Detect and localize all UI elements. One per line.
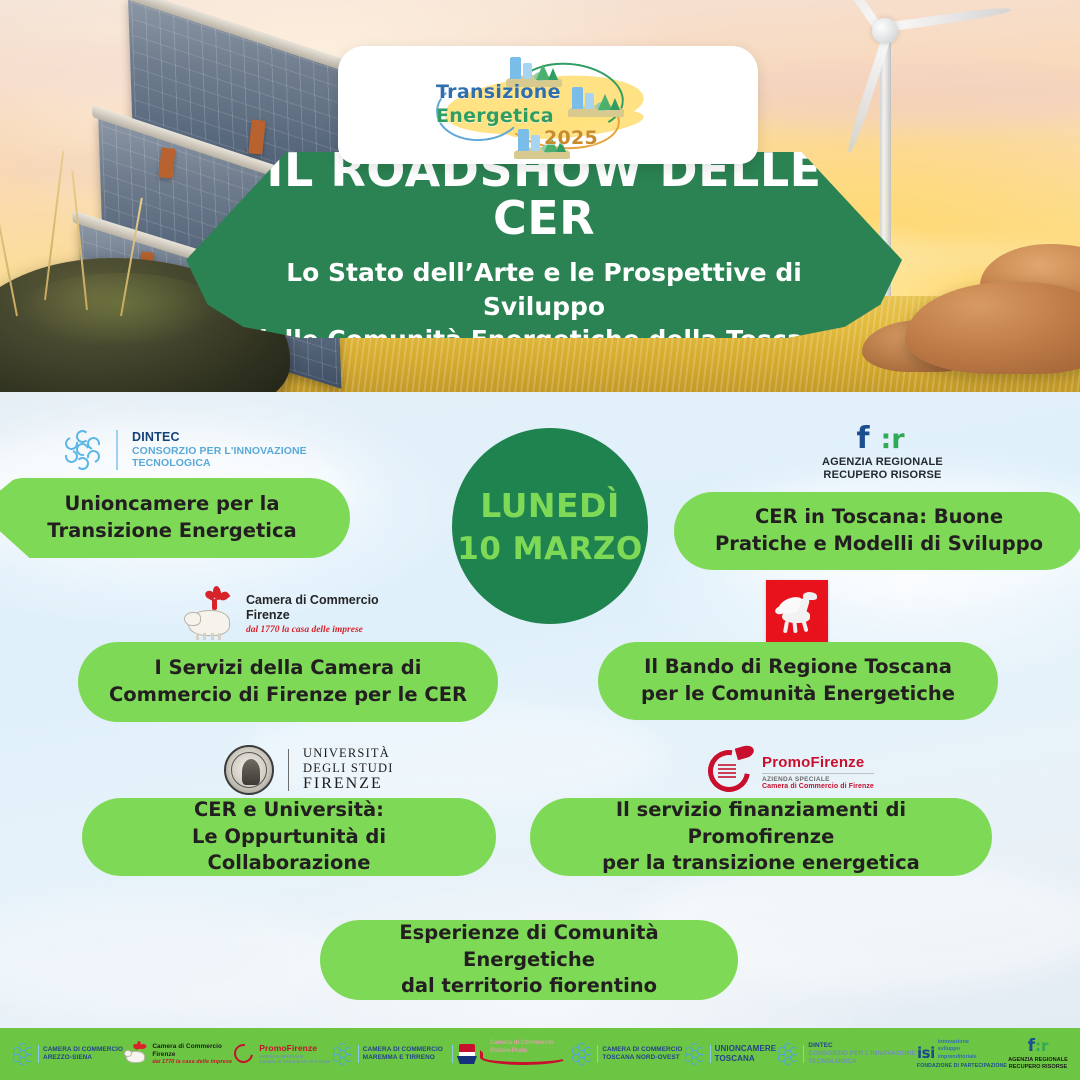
poster-root: Transizione Energetica 2025 IL ROADSHOW … xyxy=(0,0,1080,1080)
isi-wordmark: isi xyxy=(917,1047,935,1061)
footer-logo-arrr: f:r AGENZIA REGIONALE RECUPERO RISORSE xyxy=(1008,1038,1068,1071)
lamb-icon xyxy=(124,1042,148,1066)
subtitle-line-1: Lo Stato dell’Arte e le Prospettive di S… xyxy=(244,256,844,323)
partner-logo-strip: CAMERA DI COMMERCIO AREZZO-SIENA Camera … xyxy=(0,1028,1080,1080)
logo-rule xyxy=(762,773,874,774)
footer-logo-cciaa-arezzo-siena: CAMERA DI COMMERCIO AREZZO-SIENA xyxy=(12,1043,123,1065)
footer-logo-label: CAMERA DI COMMERCIO MAREMMA E TIRRENO xyxy=(363,1046,443,1062)
footer-logo-cciaa-pistoia-prato: Camera di Commercio Pistoia-Prato xyxy=(478,1041,570,1067)
lily-icon xyxy=(204,586,230,612)
footer-logo-label: CAMERA DI COMMERCIO AREZZO-SIENA xyxy=(43,1046,123,1062)
date-day-label: LUNEDÌ xyxy=(480,486,619,525)
ccf-title-1: Camera di Commercio xyxy=(246,593,379,608)
topic-pill-bando-regione[interactable]: Il Bando di Regione Toscana per le Comun… xyxy=(598,642,998,720)
topic-line-1: Il servizio finanziamenti di Promofirenz… xyxy=(556,797,966,851)
footer-logo-label: DINTEC xyxy=(808,1042,915,1050)
event-logo-card: Transizione Energetica 2025 xyxy=(338,46,758,164)
footer-logo-label: AGENZIA REGIONALE RECUPERO RISORSE xyxy=(1008,1057,1068,1071)
topic-pill-cer-universita[interactable]: CER e Università: Le Oppurtunità di Coll… xyxy=(82,798,496,876)
topic-pill-esperienze[interactable]: Esperienze di Comunità Energetiche dal t… xyxy=(320,920,738,1000)
footer-logo-cciaa-toscana-nord-ovest: CAMERA DI COMMERCIO TOSCANA NORD-OVEST xyxy=(571,1043,682,1065)
ccf-tagline: dal 1770 la casa delle imprese xyxy=(246,625,379,635)
transizione-energetica-logo: Transizione Energetica 2025 xyxy=(418,55,678,155)
lamb-icon xyxy=(184,588,238,640)
promofirenze-subtitle-1: AZIENDA SPECIALE xyxy=(762,776,874,783)
title-banner: IL ROADSHOW DELLE CER Lo Stato dell’Arte… xyxy=(186,152,902,338)
pegasus-icon xyxy=(766,580,828,642)
topic-line-1: I Servizi della Camera di xyxy=(109,655,467,682)
promofirenze-logo: PromoFirenze AZIENDA SPECIALE Camera di … xyxy=(706,748,874,796)
logo-divider xyxy=(116,430,118,470)
topic-line-2: per le Comunità Energetiche xyxy=(641,681,955,708)
wind-turbine-hub xyxy=(872,18,898,44)
rosette-icon xyxy=(332,1043,354,1065)
rosette-icon xyxy=(777,1043,799,1065)
topic-line-1: CER in Toscana: Buone xyxy=(715,504,1043,531)
isi-tagline: innovazione sviluppo imprenditoriale xyxy=(938,1039,977,1060)
promofirenze-swoosh-icon xyxy=(706,748,754,796)
rosette-icon xyxy=(571,1043,593,1065)
ccf-title-2: Firenze xyxy=(246,608,379,623)
rosette-icon xyxy=(684,1043,706,1065)
footer-logo-sub: CONSORZIO PER L'INNOVAZIONE TECNOLOGICA xyxy=(808,1050,915,1066)
topic-line-2: per la transizione energetica xyxy=(556,850,966,877)
promofirenze-subtitle-2: Camera di Commercio di Firenze xyxy=(762,783,874,790)
university-seal-icon xyxy=(224,745,274,795)
rosette-icon xyxy=(62,430,102,470)
swoosh-icon xyxy=(233,1043,255,1065)
topic-pill-unioncamere[interactable]: Unioncamere per la Transizione Energetic… xyxy=(0,478,350,558)
footer-logo-tagline: dal 1770 la casa delle imprese xyxy=(152,1059,232,1066)
footer-logo-label: Camera di Commercio Firenze xyxy=(152,1043,232,1059)
topic-line-2: dal territorio fiorentino xyxy=(346,973,712,1000)
dintec-title: DINTEC xyxy=(132,431,307,445)
promofirenze-title: PromoFirenze xyxy=(762,754,874,771)
footer-logo-cciaa-maremma-tirreno: CAMERA DI COMMERCIO MAREMMA E TIRRENO xyxy=(332,1043,477,1065)
unifi-line-1: UNIVERSITÀ xyxy=(303,746,394,761)
topic-pill-promofirenze[interactable]: Il servizio finanziamenti di Promofirenz… xyxy=(530,798,992,876)
logo-line-year: 2025 xyxy=(544,129,804,148)
logo-line-energetica: Energetica xyxy=(436,107,696,126)
footer-logo-label: PromoFirenze xyxy=(259,1043,330,1054)
footer-logo-label: CAMERA DI COMMERCIO TOSCANA NORD-OVEST xyxy=(602,1046,682,1062)
footer-logo-unioncamere-toscana: UNIONCAMERE TOSCANA xyxy=(684,1043,777,1065)
rosette-icon xyxy=(12,1043,34,1065)
arrr-mark-icon: f:r xyxy=(854,424,910,454)
unifi-line-3: FIRENZE xyxy=(303,775,394,794)
footer-logo-promofirenze: PromoFirenze AZIENDA SPECIALE Camera di … xyxy=(233,1043,330,1065)
topic-line-2: Commercio di Firenze per le CER xyxy=(109,682,467,709)
logo-line-transizione: Transizione xyxy=(436,83,696,102)
footer-logo-cciaa-firenze: Camera di Commercio Firenze dal 1770 la … xyxy=(124,1042,232,1066)
dintec-subtitle-2: TECNOLOGICA xyxy=(132,457,307,469)
date-date-label: 10 MARZO xyxy=(457,531,642,567)
swoosh-wide-icon: Camera di Commercio Pistoia-Prato xyxy=(478,1041,570,1067)
topic-line-2: Transizione Energetica xyxy=(47,518,296,545)
date-badge: LUNEDÌ 10 MARZO xyxy=(452,428,648,624)
footer-logo-sub: AZIENDA SPECIALE Camera di Commercio di … xyxy=(259,1054,330,1065)
topic-pill-cer-toscana[interactable]: CER in Toscana: Buone Pratiche e Modelli… xyxy=(674,492,1080,570)
footer-logo-label: UNIONCAMERE TOSCANA xyxy=(715,1044,777,1064)
isi-foot: FONDAZIONE DI PARTECIPAZIONE xyxy=(917,1063,1007,1069)
dintec-logo: DINTEC CONSORZIO PER L'INNOVAZIONE TECNO… xyxy=(62,430,307,470)
footer-logo-dintec: DINTEC CONSORZIO PER L'INNOVAZIONE TECNO… xyxy=(777,1042,915,1066)
arrr-caption-2: RECUPERO RISORSE xyxy=(822,469,943,482)
arrr-mark-icon: f:r xyxy=(1008,1038,1068,1056)
topic-line-2: Le Oppurtunità di Collaborazione xyxy=(108,824,470,878)
topic-line-1: Il Bando di Regione Toscana xyxy=(641,654,955,681)
camera-commercio-firenze-logo: Camera di Commercio Firenze dal 1770 la … xyxy=(184,588,379,640)
topic-line-1: CER e Università: xyxy=(108,797,470,824)
arrr-caption-1: AGENZIA REGIONALE xyxy=(822,456,943,469)
footer-logo-isi: isi innovazione sviluppo imprenditoriale… xyxy=(917,1039,1007,1068)
regione-toscana-logo xyxy=(766,580,828,642)
topic-pill-servizi-camera[interactable]: I Servizi della Camera di Commercio di F… xyxy=(78,642,498,722)
topic-line-1: Unioncamere per la xyxy=(47,491,296,518)
arrr-logo: f:r AGENZIA REGIONALE RECUPERO RISORSE xyxy=(822,424,943,482)
unifi-line-2: DEGLI STUDI xyxy=(303,761,394,776)
book-icon xyxy=(457,1043,477,1065)
dintec-subtitle-1: CONSORZIO PER L'INNOVAZIONE xyxy=(132,445,307,457)
topic-line-2: Pratiche e Modelli di Sviluppo xyxy=(715,531,1043,558)
universita-firenze-logo: UNIVERSITÀ DEGLI STUDI FIRENZE xyxy=(224,745,394,795)
topic-line-1: Esperienze di Comunità Energetiche xyxy=(346,920,712,974)
arrr-caption: AGENZIA REGIONALE RECUPERO RISORSE xyxy=(822,456,943,482)
